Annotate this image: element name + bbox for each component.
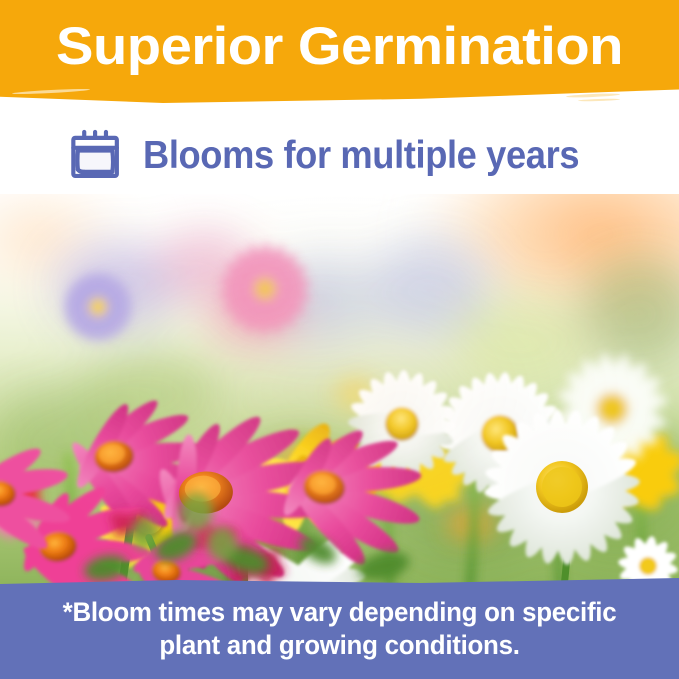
header-banner: Superior Germination — [0, 0, 679, 104]
footer-disclaimer: *Bloom times may vary depending on speci… — [14, 596, 666, 662]
product-feature-card: Superior Germination — [0, 0, 679, 679]
footer-line-2: plant and growing conditions. — [159, 630, 519, 660]
page-title: Superior Germination — [0, 16, 679, 78]
calendar-icon — [67, 127, 125, 185]
wildflower-meadow-photo — [0, 194, 679, 586]
brush-stroke-right-decoration-2 — [578, 98, 620, 101]
footer-line-1: *Bloom times may vary depending on speci… — [63, 597, 617, 627]
brush-stroke-right-decoration — [566, 93, 620, 98]
feature-row: Blooms for multiple years — [0, 118, 679, 194]
feature-label: Blooms for multiple years — [143, 134, 579, 178]
